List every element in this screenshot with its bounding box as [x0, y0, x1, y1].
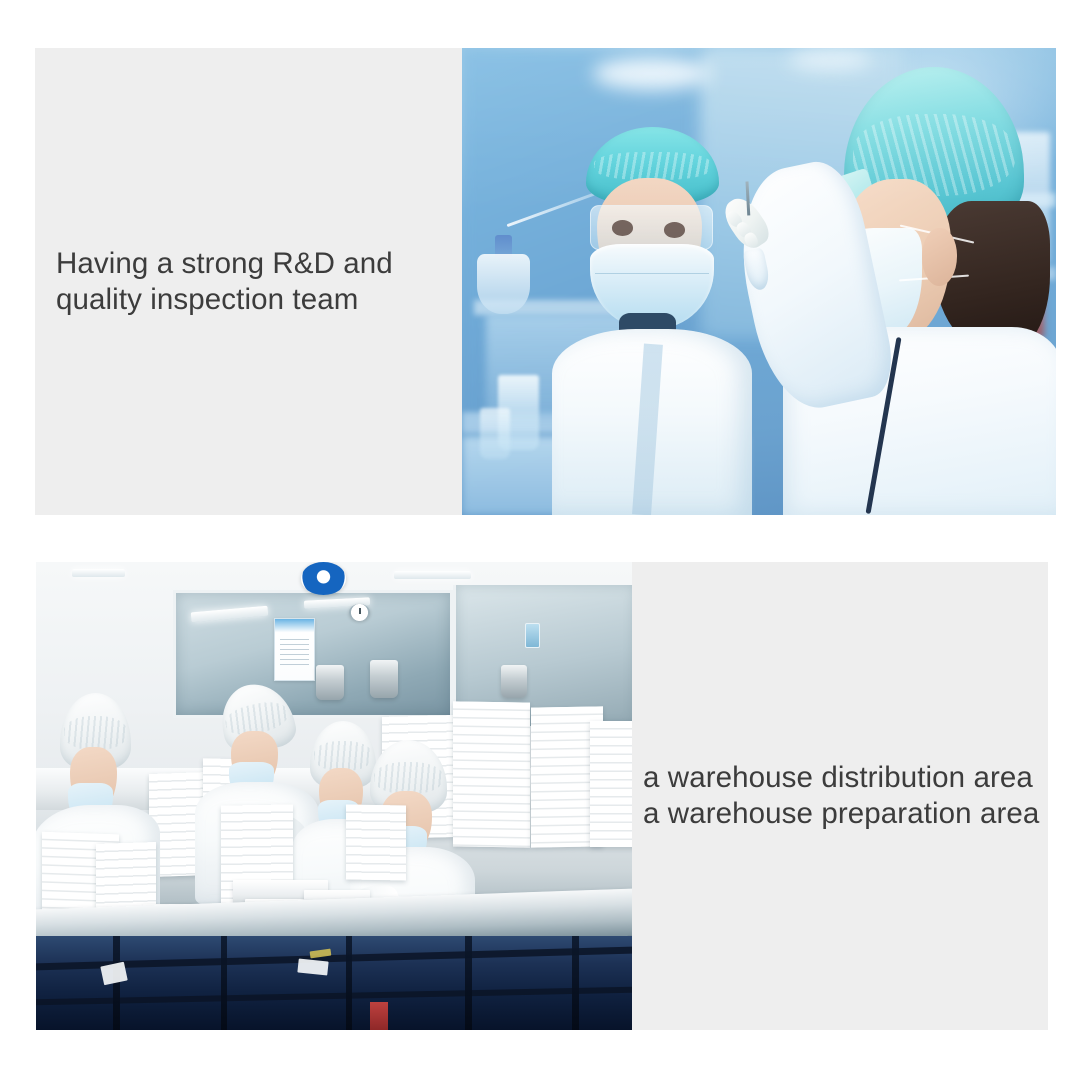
caption-rd-quality-team: Having a strong R&D and quality inspecti… [56, 246, 462, 318]
steel-container [370, 660, 399, 697]
banner-warehouse-areas: a warehouse distribution area a warehous… [36, 562, 1048, 1030]
box-stack [453, 702, 530, 848]
wall-notice-poster [274, 618, 315, 681]
held-flask [477, 235, 530, 314]
product-detail-page: Having a strong R&D and quality inspecti… [0, 0, 1080, 1080]
table-leg [465, 936, 472, 1030]
steel-container [501, 665, 527, 698]
wall-clock-icon [349, 604, 370, 621]
ceiling-light-icon [593, 57, 712, 90]
caption-panel-right: a warehouse distribution area a warehous… [632, 562, 1048, 1030]
caption-warehouse-areas: a warehouse distribution area a warehous… [643, 760, 1048, 832]
packing-scene-background [36, 562, 632, 1030]
flask-in-hand [741, 247, 771, 292]
sample-vial [525, 623, 540, 648]
box-stack [346, 805, 406, 881]
table-leg [346, 936, 353, 1030]
safety-goggles [590, 205, 713, 250]
lab-worker-profile [771, 67, 1056, 515]
ceiling-light-tube [72, 569, 126, 576]
steel-container [316, 665, 343, 700]
loose-paper [298, 958, 329, 975]
box-stack [590, 721, 632, 847]
table-leg [572, 936, 579, 1030]
worker-eye [612, 220, 633, 236]
flask-body [477, 254, 530, 314]
cleanroom-packing-photo [36, 562, 632, 1030]
table-leg [113, 936, 120, 1030]
banner-rd-quality-team: Having a strong R&D and quality inspecti… [35, 48, 1056, 515]
ceiling-light-tube [394, 571, 471, 578]
blue-circular-sign-icon [301, 562, 346, 595]
lab-scene-background [462, 48, 1056, 515]
laboratory-inspection-photo [462, 48, 1056, 515]
caption-panel-left: Having a strong R&D and quality inspecti… [35, 48, 462, 515]
worker-eye [664, 222, 685, 238]
lab-worker-front [533, 127, 771, 515]
glassware-beaker-small [480, 408, 510, 459]
table-leg [221, 936, 228, 1030]
red-item [370, 1002, 388, 1030]
